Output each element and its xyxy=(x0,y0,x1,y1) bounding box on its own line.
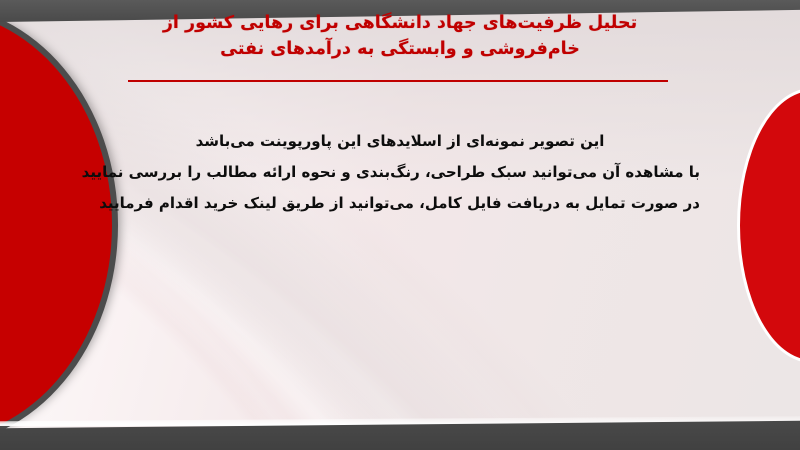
body-line-3: در صورت تمایل به دریافت فایل کامل، می‌تو… xyxy=(100,188,700,219)
slide-title: تحلیل ظرفیت‌های جهاد دانشگاهی برای رهایی… xyxy=(110,10,690,62)
slide-body: این تصویر نمونه‌ای از اسلایدهای این پاور… xyxy=(100,126,700,219)
title-line-1: تحلیل ظرفیت‌های جهاد دانشگاهی برای رهایی… xyxy=(110,10,690,36)
body-line-2: با مشاهده آن می‌توانید سبک طراحی، رنگ‌بن… xyxy=(100,157,700,188)
slide-background-plate xyxy=(0,0,800,450)
presentation-slide: تحلیل ظرفیت‌های جهاد دانشگاهی برای رهایی… xyxy=(0,0,800,450)
title-underline xyxy=(128,80,668,82)
title-line-2: خام‌فروشی و وابستگی به درآمدهای نفتی xyxy=(110,36,690,62)
body-line-1: این تصویر نمونه‌ای از اسلایدهای این پاور… xyxy=(100,126,700,157)
